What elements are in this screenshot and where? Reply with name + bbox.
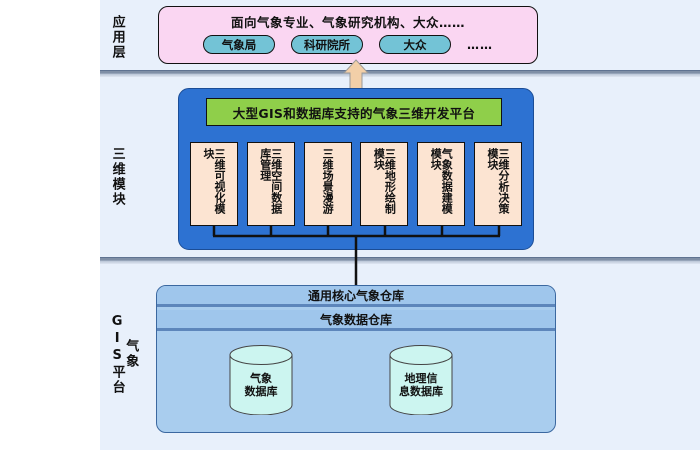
module-3d-terrain-rendering[interactable]: 三维地形绘制模块 [360, 142, 408, 226]
band-core-meteorological-warehouse: 通用核心气象仓库 [157, 286, 555, 307]
layer-divider-top [100, 70, 700, 77]
layer-divider-bottom [100, 257, 700, 264]
database-geographic-information[interactable]: 地理信 息数据库 [388, 345, 454, 415]
database-label: 地理信 息数据库 [388, 373, 454, 398]
development-platform-banner: 大型GIS和数据库支持的气象三维开发平台 [206, 98, 502, 126]
layer-label-application: 应用层 [110, 12, 124, 62]
module-label: 三维空间数据库管理 [260, 148, 282, 222]
band-meteorological-data-warehouse: 气象数据仓库 [157, 310, 555, 331]
module-label: 三维地形绘制模块 [373, 148, 395, 222]
module-label: 三维场景漫游 [322, 148, 333, 222]
application-layer-title: 面向气象专业、气象研究机构、大众…… [159, 12, 537, 31]
module-label: 三维可视化模块 [203, 148, 225, 222]
layer-label-modules: 三维模块 [110, 140, 124, 214]
module-list: 三维可视化模块 三维空间数据库管理 三维场景漫游 三维地形绘制模块 气象数据建模… [190, 142, 522, 226]
application-layer-box: 面向气象专业、气象研究机构、大众…… 气象局 科研院所 大众 …… [158, 6, 538, 64]
audience-pill-research-institute[interactable]: 科研院所 [291, 35, 363, 54]
gis-platform-container: 通用核心气象仓库 气象数据仓库 [156, 285, 556, 433]
audience-pill-public[interactable]: 大众 [379, 35, 451, 54]
database-meteorological[interactable]: 气象 数据库 [228, 345, 294, 415]
audience-ellipsis: …… [467, 38, 493, 52]
module-3d-visualization[interactable]: 三维可视化模块 [190, 142, 238, 226]
module-3d-scene-roaming[interactable]: 三维场景漫游 [304, 142, 352, 226]
module-label: 气象数据建模模块 [430, 148, 452, 222]
module-meteorological-data-modeling[interactable]: 气象数据建模模块 [417, 142, 465, 226]
architecture-diagram: 应用层 三维模块 气象 GIS平台 面向气象专业、气象研究机构、大众…… 气象局… [0, 0, 700, 450]
module-3d-analysis-decision[interactable]: 三维分析决策模块 [474, 142, 522, 226]
audience-pill-meteorological-bureau[interactable]: 气象局 [203, 35, 275, 54]
layer-label-gis-platform: 气象 GIS平台 [110, 300, 137, 408]
module-label: 三维分析决策模块 [487, 148, 509, 222]
database-label: 气象 数据库 [228, 373, 294, 398]
application-audience-list: 气象局 科研院所 大众 …… [159, 35, 537, 54]
module-3d-spatial-database-management[interactable]: 三维空间数据库管理 [247, 142, 295, 226]
